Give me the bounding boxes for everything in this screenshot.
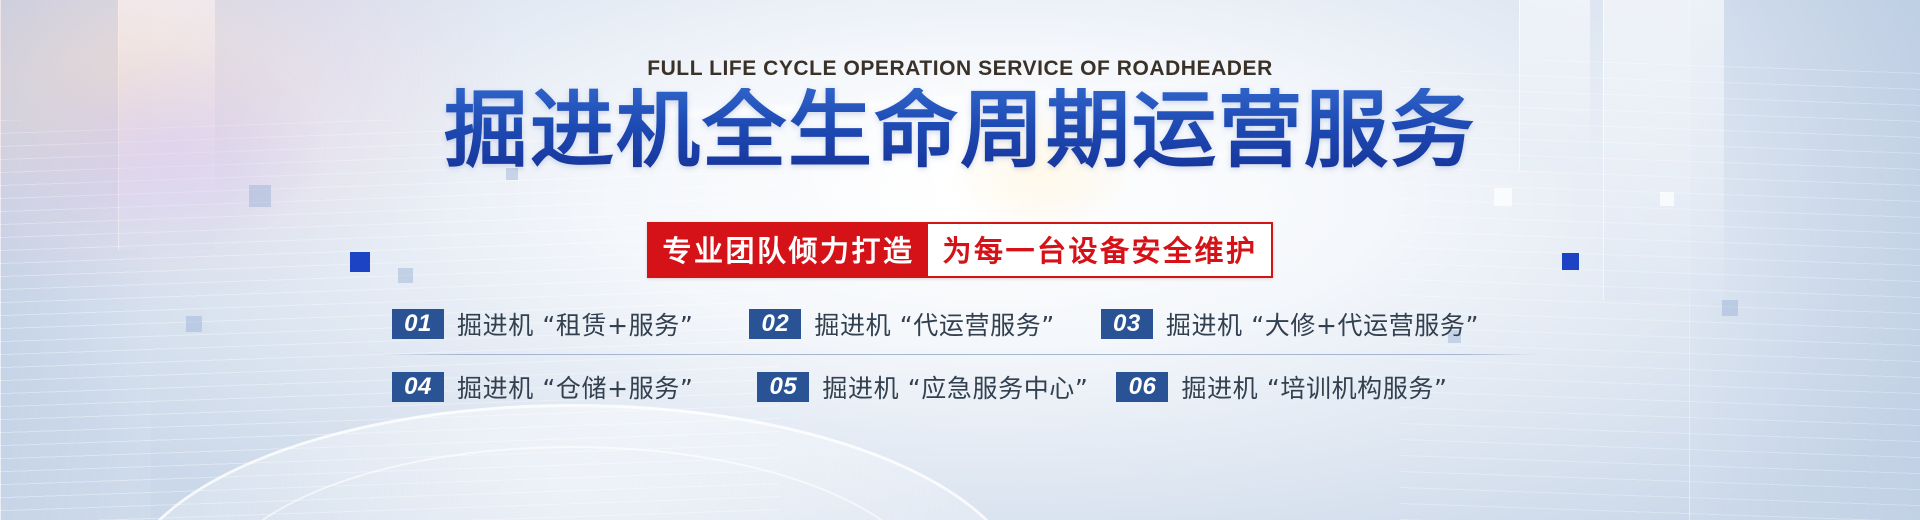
service-row-2: 04 掘进机 “仓储+服务” 05 掘进机 “应急服务中心” 06 掘进机 “培… [380,359,1540,415]
service-label-06: 掘进机 “培训机构服务” [1181,369,1447,405]
service-label-04: 掘进机 “仓储+服务” [457,369,693,405]
service-row-1: 01 掘进机 “租赁+服务” 02 掘进机 “代运营服务” 03 掘进机 “大修… [380,296,1540,352]
service-number-badge-05: 05 [757,372,809,402]
service-number-badge-01: 01 [392,309,444,339]
tagline-primary: 专业团队倾力打造 [649,224,927,276]
service-number-badge-06: 06 [1116,372,1168,402]
service-label-03: 掘进机 “大修+代运营服务” [1166,306,1479,342]
banner-content: FULL LIFE CYCLE OPERATION SERVICE OF ROA… [0,0,1920,520]
service-item-03[interactable]: 03 掘进机 “大修+代运营服务” [1101,306,1479,342]
service-number-badge-04: 04 [392,372,444,402]
tagline-secondary: 为每一台设备安全维护 [928,224,1271,276]
service-label-05: 掘进机 “应急服务中心” [822,369,1088,405]
service-list-divider [380,354,1540,355]
service-item-06[interactable]: 06 掘进机 “培训机构服务” [1116,369,1447,405]
service-item-01[interactable]: 01 掘进机 “租赁+服务” [392,306,693,342]
service-list: 01 掘进机 “租赁+服务” 02 掘进机 “代运营服务” 03 掘进机 “大修… [380,296,1540,415]
hero-banner: FULL LIFE CYCLE OPERATION SERVICE OF ROA… [0,0,1920,520]
service-number-badge-03: 03 [1101,309,1153,339]
service-label-01: 掘进机 “租赁+服务” [457,306,693,342]
service-number-badge-02: 02 [749,309,801,339]
service-label-02: 掘进机 “代运营服务” [814,306,1054,342]
tagline-box: 专业团队倾力打造 为每一台设备安全维护 [647,222,1272,278]
banner-eyebrow-english: FULL LIFE CYCLE OPERATION SERVICE OF ROA… [0,57,1920,81]
service-item-05[interactable]: 05 掘进机 “应急服务中心” [757,369,1088,405]
banner-tagline: 专业团队倾力打造 为每一台设备安全维护 [0,222,1920,278]
service-item-02[interactable]: 02 掘进机 “代运营服务” [749,306,1054,342]
service-item-04[interactable]: 04 掘进机 “仓储+服务” [392,369,693,405]
banner-headline: 掘进机全生命周期运营服务 [0,88,1920,174]
